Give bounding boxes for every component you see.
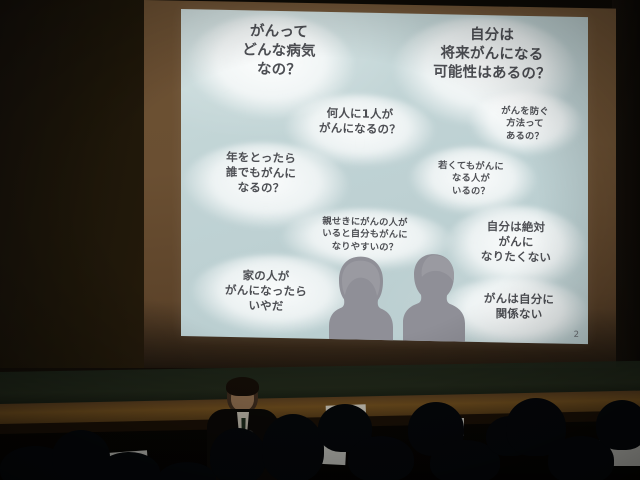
boy-silhouette	[403, 251, 465, 342]
bubble-young-people-cancer: 若くてもがんに なる人が いるの？	[419, 160, 523, 199]
projected-slide: がんって どんな病気 なの？ 自分は 将来がんになる 可能性はあるの？ 何人に1…	[181, 9, 588, 344]
presenter-hair	[226, 377, 259, 396]
audience-head	[52, 430, 110, 480]
wall-right-dark	[612, 0, 640, 392]
bubble-will-i-get-cancer: 自分は 将来がんになる 可能性はあるの？	[411, 25, 573, 86]
bubble-what-is-cancer: がんって どんな病気 なの？	[209, 22, 349, 82]
bubble-never-want-cancer: 自分は絶対 がんに なりたくない	[455, 219, 577, 267]
slide-page-number: 2	[574, 330, 579, 340]
bubble-prevent-cancer: がんを防ぐ 方法って あるの？	[481, 105, 569, 144]
photo-scene: がんって どんな病気 なの？ 自分は 将来がんになる 可能性はあるの？ 何人に1…	[0, 0, 640, 480]
audience-head	[262, 414, 324, 480]
girl-silhouette	[329, 254, 393, 341]
bubble-family-cancer-sad: 家の人が がんになったら いやだ	[201, 267, 331, 315]
bubble-old-age-cancer: 年をとったら 誰でもがんに なるの？	[191, 149, 331, 197]
audience-head	[210, 428, 266, 480]
bubble-how-many-people: 何人に1人が がんになるの？	[301, 105, 419, 138]
audience-head	[348, 436, 414, 480]
bubble-not-related-to-me: がんは自分に 関係ない	[461, 291, 577, 324]
audience-head	[596, 400, 640, 450]
wall-left-dark	[0, 0, 150, 392]
bubble-relatives-cancer: 親せきにがんの人が いると自分もがんに なりやすいの？	[299, 215, 431, 254]
slide-canvas: がんって どんな病気 なの？ 自分は 将来がんになる 可能性はあるの？ 何人に1…	[181, 9, 588, 344]
